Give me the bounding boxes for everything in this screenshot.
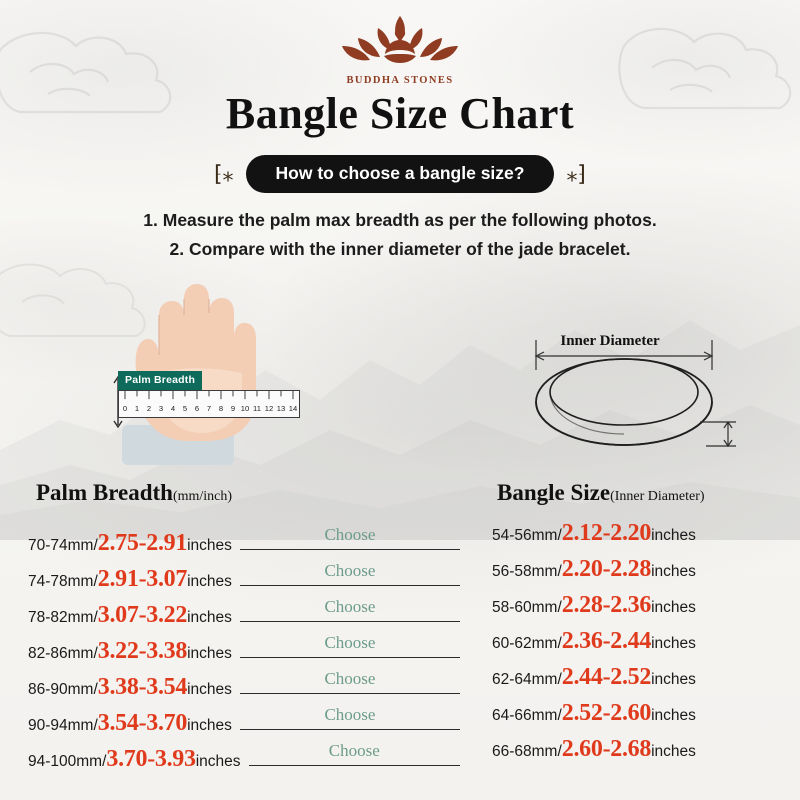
palm-inch-unit: inches — [187, 573, 232, 591]
brand-name: BUDDHA STONES — [347, 75, 454, 86]
palm-breadth-heading-unit: (mm/inch) — [173, 489, 232, 504]
ruler-number: 14 — [287, 404, 299, 413]
ruler-number: 8 — [215, 404, 227, 413]
ornament-right-icon: ⁎⁆ — [566, 161, 586, 187]
palm-inch-unit: inches — [187, 645, 232, 663]
ruler-number: 10 — [239, 404, 251, 413]
lotus-buddha-icon — [334, 12, 466, 74]
bangle-inch-value: 2.60-2.68 — [562, 736, 651, 763]
palm-inch-value: 3.70-3.93 — [106, 746, 195, 773]
table-row: 54-56mm / 2.12-2.20 inches — [492, 520, 782, 556]
choose-field[interactable]: Choose — [240, 628, 460, 658]
choose-underline — [249, 765, 460, 766]
bangle-inch-unit: inches — [651, 743, 696, 761]
choose-label[interactable]: Choose — [324, 705, 375, 725]
palm-inch-value: 2.75-2.91 — [98, 530, 187, 557]
choose-field[interactable]: Choose — [240, 700, 460, 730]
ruler-illustration: 0 1 2 3 4 5 6 7 8 9 10 11 12 13 14 — [118, 390, 300, 418]
ruler-number: 9 — [227, 404, 239, 413]
bangle-inch-unit: inches — [651, 635, 696, 653]
choose-field[interactable]: Choose — [240, 520, 460, 550]
bangle-inch-unit: inches — [651, 671, 696, 689]
page-title: Bangle Size Chart — [0, 88, 800, 139]
ribbon-row: ⁅⁎ How to choose a bangle size? ⁎⁆ — [0, 155, 800, 193]
palm-inch-value: 3.54-3.70 — [98, 710, 187, 737]
ruler-number: 1 — [131, 404, 143, 413]
bangle-size-heading-unit: (Inner Diameter) — [610, 489, 704, 504]
hand-illustration — [96, 275, 376, 465]
palm-breadth-section-header: Palm Breadth(mm/inch) — [36, 480, 232, 506]
bangle-mm-value: 64-66mm — [492, 707, 557, 725]
bangle-mm-value: 54-56mm — [492, 527, 557, 545]
palm-breadth-badge: Palm Breadth — [118, 371, 202, 390]
ornament-left-icon: ⁅⁎ — [214, 161, 234, 187]
ruler-number: 3 — [155, 404, 167, 413]
ruler-number: 13 — [275, 404, 287, 413]
choose-field[interactable]: Choose — [249, 736, 460, 766]
instruction-step-1: 1. Measure the palm max breadth as per t… — [0, 206, 800, 235]
palm-inch-unit: inches — [187, 609, 232, 627]
palm-inch-unit: inches — [187, 681, 232, 699]
choose-underline — [240, 729, 460, 730]
bangle-inch-unit: inches — [651, 563, 696, 581]
palm-inch-value: 3.07-3.22 — [98, 602, 187, 629]
table-row: 90-94mm / 3.54-3.70 inches Choose — [28, 700, 460, 736]
bangle-mm-value: 60-62mm — [492, 635, 557, 653]
table-row: 66-68mm / 2.60-2.68 inches — [492, 736, 782, 772]
table-row: 82-86mm / 3.22-3.38 inches Choose — [28, 628, 460, 664]
bangle-inch-value: 2.12-2.20 — [562, 520, 651, 547]
choose-field[interactable]: Choose — [240, 556, 460, 586]
ruler-number: 12 — [263, 404, 275, 413]
palm-breadth-heading: Palm Breadth — [36, 480, 173, 505]
bangle-size-heading: Bangle Size — [497, 480, 610, 505]
bangle-mm-value: 66-68mm — [492, 743, 557, 761]
how-to-choose-banner: How to choose a bangle size? — [246, 155, 555, 193]
choose-label[interactable]: Choose — [324, 597, 375, 617]
palm-inch-value: 3.38-3.54 — [98, 674, 187, 701]
ruler-ticks — [119, 391, 299, 400]
choose-underline — [240, 693, 460, 694]
palm-mm-value: 94-100mm — [28, 753, 102, 771]
palm-inch-value: 3.22-3.38 — [98, 638, 187, 665]
palm-inch-unit: inches — [187, 537, 232, 555]
palm-inch-unit: inches — [196, 753, 241, 771]
palm-inch-value: 2.91-3.07 — [98, 566, 187, 593]
bangle-inch-value: 2.36-2.44 — [562, 628, 651, 655]
bangle-size-section-header: Bangle Size(Inner Diameter) — [497, 480, 705, 506]
ruler-number: 6 — [191, 404, 203, 413]
palm-mm-value: 70-74mm — [28, 537, 93, 555]
choose-label[interactable]: Choose — [329, 741, 380, 761]
ruler-number: 0 — [119, 404, 131, 413]
bangle-mm-value: 56-58mm — [492, 563, 557, 581]
palm-mm-value: 78-82mm — [28, 609, 93, 627]
bangle-illustration — [500, 330, 765, 475]
choose-label[interactable]: Choose — [324, 561, 375, 581]
bangle-inch-unit: inches — [651, 707, 696, 725]
palm-mm-value: 86-90mm — [28, 681, 93, 699]
palm-mm-value: 74-78mm — [28, 573, 93, 591]
table-row: 56-58mm / 2.20-2.28 inches — [492, 556, 782, 592]
ruler-number: 2 — [143, 404, 155, 413]
table-row: 94-100mm / 3.70-3.93 inches Choose — [28, 736, 460, 772]
ruler-number: 5 — [179, 404, 191, 413]
bangle-inch-value: 2.44-2.52 — [562, 664, 651, 691]
bangle-inch-value: 2.52-2.60 — [562, 700, 651, 727]
choose-label[interactable]: Choose — [324, 525, 375, 545]
palm-breadth-table: 70-74mm / 2.75-2.91 inches Choose 74-78m… — [28, 520, 460, 772]
ruler-numbers: 0 1 2 3 4 5 6 7 8 9 10 11 12 13 14 — [119, 400, 299, 417]
bangle-inch-unit: inches — [651, 527, 696, 545]
table-row: 64-66mm / 2.52-2.60 inches — [492, 700, 782, 736]
choose-underline — [240, 549, 460, 550]
ruler-number: 7 — [203, 404, 215, 413]
table-row: 78-82mm / 3.07-3.22 inches Choose — [28, 592, 460, 628]
ruler-number: 11 — [251, 404, 263, 413]
palm-mm-value: 82-86mm — [28, 645, 93, 663]
choose-underline — [240, 585, 460, 586]
ruler-number: 4 — [167, 404, 179, 413]
palm-inch-unit: inches — [187, 717, 232, 735]
choose-field[interactable]: Choose — [240, 664, 460, 694]
bangle-mm-value: 62-64mm — [492, 671, 557, 689]
bangle-inch-unit: inches — [651, 599, 696, 617]
instruction-step-2: 2. Compare with the inner diameter of th… — [0, 235, 800, 264]
choose-label[interactable]: Choose — [324, 669, 375, 689]
bangle-inch-value: 2.28-2.36 — [562, 592, 651, 619]
bangle-mm-value: 58-60mm — [492, 599, 557, 617]
choose-underline — [240, 657, 460, 658]
choose-field[interactable]: Choose — [240, 592, 460, 622]
table-row: 74-78mm / 2.91-3.07 inches Choose — [28, 556, 460, 592]
table-row: 86-90mm / 3.38-3.54 inches Choose — [28, 664, 460, 700]
brand-logo: BUDDHA STONES — [0, 12, 800, 86]
bangle-inch-value: 2.20-2.28 — [562, 556, 651, 583]
palm-mm-value: 90-94mm — [28, 717, 93, 735]
instruction-steps: 1. Measure the palm max breadth as per t… — [0, 206, 800, 264]
table-row: 60-62mm / 2.36-2.44 inches — [492, 628, 782, 664]
choose-underline — [240, 621, 460, 622]
table-row: 70-74mm / 2.75-2.91 inches Choose — [28, 520, 460, 556]
bangle-size-table: 54-56mm / 2.12-2.20 inches 56-58mm / 2.2… — [492, 520, 782, 772]
table-row: 58-60mm / 2.28-2.36 inches — [492, 592, 782, 628]
table-row: 62-64mm / 2.44-2.52 inches — [492, 664, 782, 700]
choose-label[interactable]: Choose — [324, 633, 375, 653]
